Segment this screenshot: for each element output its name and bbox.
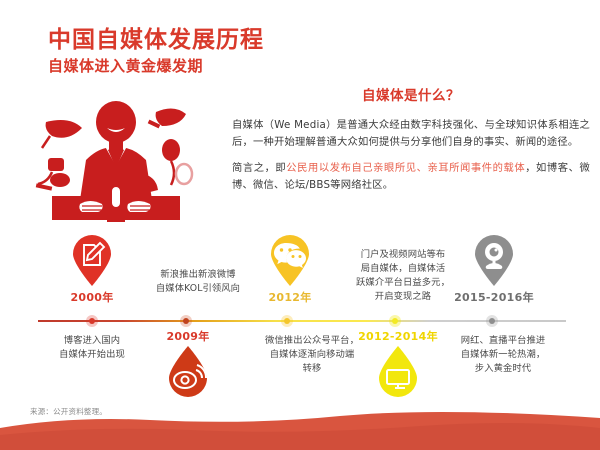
- press-conference-illustration: [8, 88, 223, 228]
- description-2015-2016: 网红、直播平台推进 自媒体新一轮热潮， 步入黄金时代: [435, 334, 571, 376]
- timeline-dot-2000: [86, 315, 98, 327]
- timeline-dot-2012-2014: [389, 315, 401, 327]
- webcam-icon: [472, 234, 516, 286]
- infographic-canvas: 中国自媒体发展历程 自媒体进入黄金爆发期: [0, 0, 600, 450]
- year-label-2012: 2012年: [230, 289, 350, 305]
- year-label-2015-2016: 2015-2016年: [434, 289, 554, 305]
- definition-paragraph-1: 自媒体（We Media）是普通大众经由数字科技强化、与全球知识体系相连之后，一…: [232, 117, 590, 150]
- weibo-icon: [166, 346, 210, 398]
- pen-document-icon: [70, 234, 114, 286]
- page-subtitle: 自媒体进入黄金爆发期: [48, 55, 203, 76]
- timeline-dot-2009: [180, 315, 192, 327]
- year-label-2009: 2009年: [128, 328, 248, 344]
- timeline-dot-2012: [281, 315, 293, 327]
- definition-paragraph-2: 简言之，即公民用以发布自己亲眼所见、亲耳所闻事件的载体，如博客、微博、微信、论坛…: [232, 160, 590, 193]
- timeline-node-2012[interactable]: 2012年: [230, 234, 350, 305]
- wechat-icon: [268, 234, 312, 286]
- timeline-node-2009[interactable]: 2009年: [128, 328, 248, 398]
- timeline-dot-2015-2016: [486, 315, 498, 327]
- bottom-wave-decoration: [0, 402, 600, 450]
- definition-panel: 自媒体是什么？ 自媒体（We Media）是普通大众经由数字科技强化、与全球知识…: [232, 84, 590, 204]
- timeline-node-2015-2016[interactable]: 2015-2016年: [434, 234, 554, 305]
- paragraph-2-highlight: 公民用以发布自己亲眼所见、亲耳所闻事件的载体: [286, 162, 525, 174]
- monitor-icon: [376, 346, 420, 398]
- page-title: 中国自媒体发展历程: [48, 20, 264, 54]
- paragraph-2-prefix: 简言之，即: [232, 162, 286, 174]
- panel-title: 自媒体是什么？: [232, 84, 590, 104]
